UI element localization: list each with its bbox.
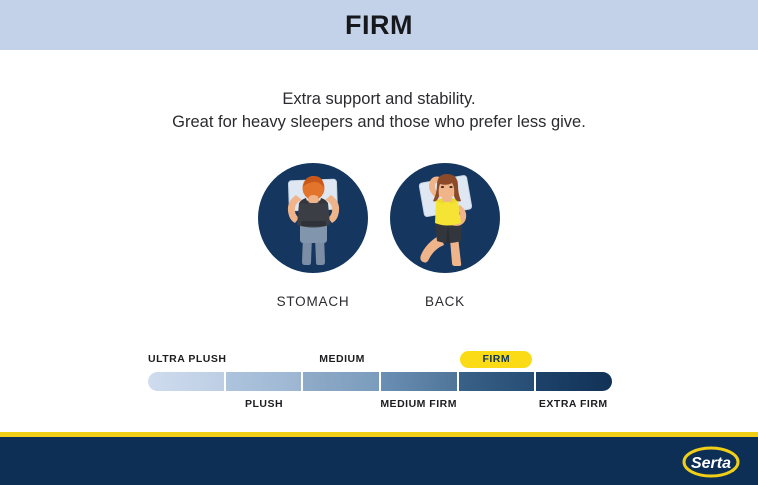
firmness-segment-ultra-plush (148, 372, 226, 391)
header-bar: FIRM (0, 0, 758, 50)
firmness-segment-medium-firm (381, 372, 459, 391)
firmness-label-slot (303, 395, 380, 413)
subtitle-block: Extra support and stability. Great for h… (0, 88, 758, 134)
subtitle-line-1: Extra support and stability. (0, 88, 758, 111)
firmness-scale-bar (148, 372, 612, 391)
firmness-label-slot (535, 350, 612, 368)
firmness-label-slot (457, 395, 534, 413)
firmness-label-slot: PLUSH (225, 395, 302, 413)
sleeper-back: BACK (385, 163, 505, 309)
sleeper-label-stomach: STOMACH (277, 294, 350, 309)
firmness-label-extra-firm: EXTRA FIRM (539, 398, 608, 410)
firmness-scale-labels-top: ULTRA PLUSH MEDIUM FIRM (148, 350, 612, 368)
firmness-label-slot (226, 350, 303, 368)
firmness-label-plush: PLUSH (245, 398, 283, 410)
sleeper-positions-group: STOMACH (0, 163, 758, 309)
footer-bar: Serta (0, 437, 758, 485)
firmness-segment-medium (303, 372, 381, 391)
page-title: FIRM (345, 12, 413, 39)
firmness-label-slot: EXTRA FIRM (535, 395, 612, 413)
firmness-scale: ULTRA PLUSH MEDIUM FIRM PLUSH (148, 350, 612, 416)
firmness-label-medium: MEDIUM (319, 353, 365, 365)
back-sleeper-illustration (390, 163, 500, 273)
sleeper-stomach: STOMACH (253, 163, 373, 309)
firmness-label-slot (148, 395, 225, 413)
sleeper-label-back: BACK (425, 294, 465, 309)
stomach-sleeper-illustration (258, 163, 368, 273)
firmness-label-slot: MEDIUM FIRM (380, 395, 457, 413)
subtitle-line-2: Great for heavy sleepers and those who p… (0, 111, 758, 134)
firmness-label-slot: FIRM (458, 350, 535, 368)
firmness-label-slot (381, 350, 458, 368)
firmness-label-slot: MEDIUM (304, 350, 381, 368)
firmness-label-firm-selected: FIRM (460, 351, 532, 368)
firmness-scale-labels-bottom: PLUSH MEDIUM FIRM EXTRA FIRM (148, 395, 612, 413)
serta-logo-text: Serta (691, 455, 731, 472)
firmness-segment-firm (459, 372, 537, 391)
firmness-label-slot: ULTRA PLUSH (148, 350, 226, 368)
serta-logo: Serta (680, 445, 742, 479)
firmness-label-ultra-plush: ULTRA PLUSH (148, 353, 226, 365)
firmness-segment-plush (226, 372, 304, 391)
firmness-label-medium-firm: MEDIUM FIRM (380, 398, 457, 410)
firmness-segment-extra-firm (536, 372, 612, 391)
